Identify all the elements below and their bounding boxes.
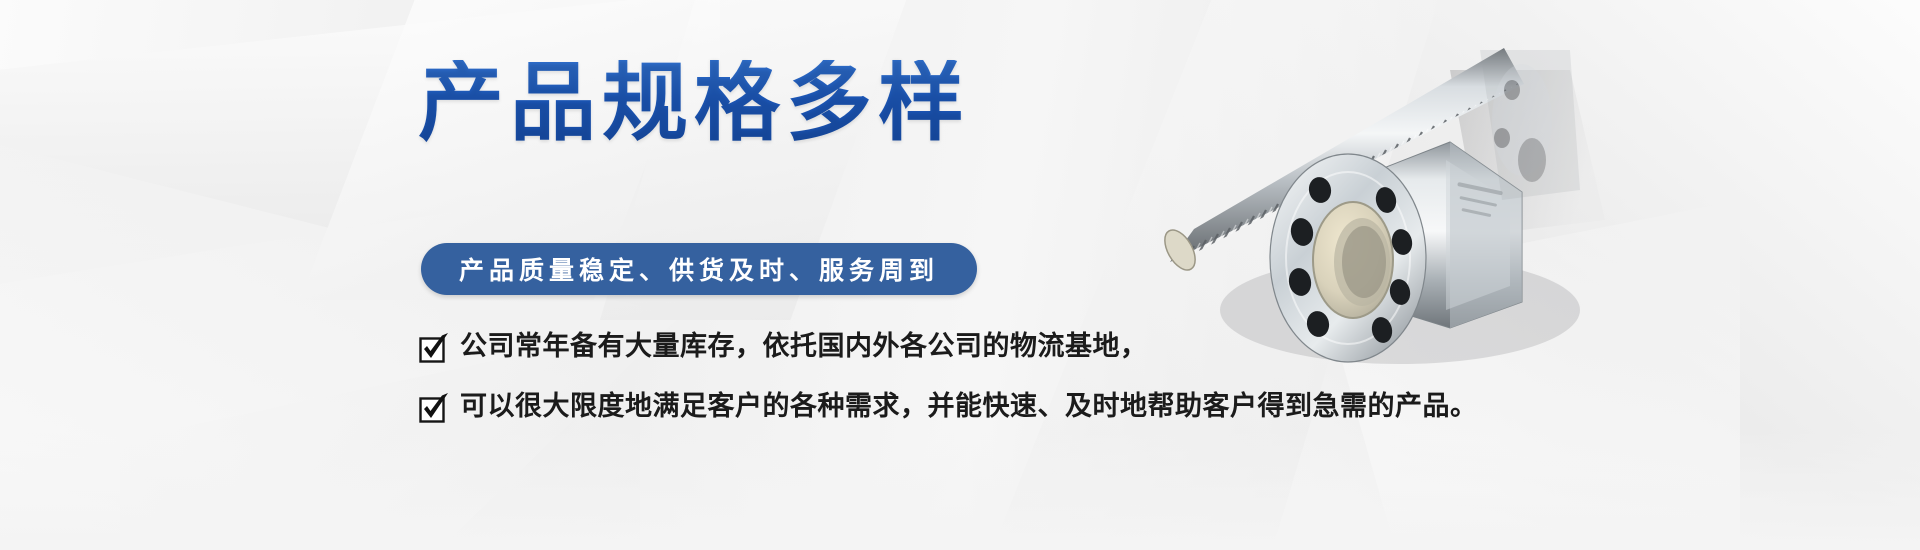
list-item-label: 公司常年备有大量库存，依托国内外各公司的物流基地， [460,330,1148,364]
list-item: 可以很大限度地满足客户的各种需求，并能快速、及时地帮助客户得到急需的产品。 [418,390,1478,424]
feature-bullet-list: 公司常年备有大量库存，依托国内外各公司的物流基地， 可以很大限度地满足客户的各种… [418,330,1478,450]
product-spec-banner: 产品规格多样 产品质量稳定、供货及时、服务周到 公司常年备有大量库存，依托国内外… [0,0,1920,550]
tagline-badge: 产品质量稳定、供货及时、服务周到 [421,243,977,295]
banner-content: 产品规格多样 产品质量稳定、供货及时、服务周到 公司常年备有大量库存，依托国内外… [418,0,1418,550]
list-item-label: 可以很大限度地满足客户的各种需求，并能快速、及时地帮助客户得到急需的产品。 [460,390,1478,424]
tagline-badge-label: 产品质量稳定、供货及时、服务周到 [459,251,939,287]
list-item: 公司常年备有大量库存，依托国内外各公司的物流基地， [418,330,1478,364]
check-box-icon [418,394,448,424]
check-box-icon [418,334,448,364]
page-title: 产品规格多样 [418,60,970,146]
